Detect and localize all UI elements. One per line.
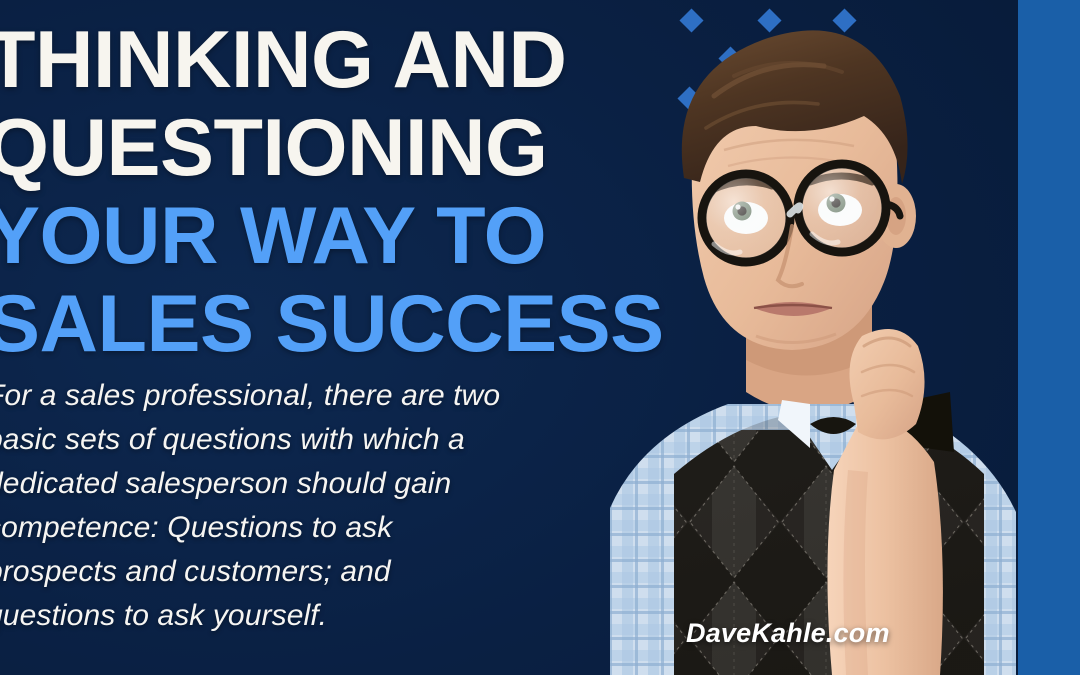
headline-line-1: THINKING AND [0,16,626,104]
headline-line-3: YOUR WAY TO [0,192,626,280]
body-copy-line: competence: Questions to ask [0,506,626,550]
subject-photo-illustration [596,0,1080,675]
body-copy-line: For a sales professional, there are two [0,374,626,418]
headline: THINKING AND QUESTIONING YOUR WAY TO SAL… [0,16,626,368]
promo-graphic: THINKING AND QUESTIONING YOUR WAY TO SAL… [0,0,1080,675]
body-copy-line: dedicated salesperson should gain [0,462,626,506]
text-column: THINKING AND QUESTIONING YOUR WAY TO SAL… [0,0,626,675]
body-copy-line: prospects and customers; and [0,550,626,594]
body-copy: For a sales professional, there are two … [0,374,626,638]
subject-photo [596,0,1080,675]
thinking-man-illustration [596,0,1080,675]
body-copy-line: questions to ask yourself. [0,594,626,638]
headline-line-4: SALES SUCCESS [0,280,626,368]
brand-website-label: DaveKahle.com [686,618,890,649]
headline-line-2: QUESTIONING [0,104,626,192]
body-copy-line: basic sets of questions with which a [0,418,626,462]
